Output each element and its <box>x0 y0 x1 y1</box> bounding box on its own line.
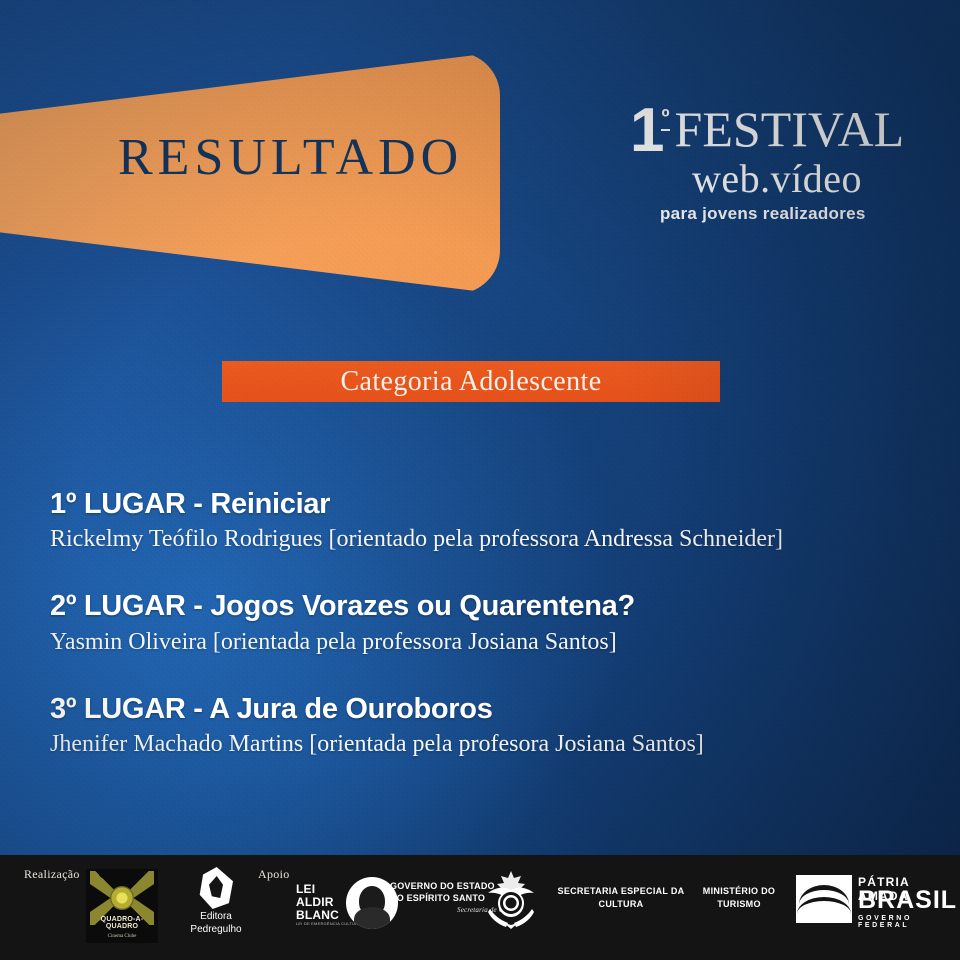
festival-tagline: para jovens realizadores <box>660 204 920 224</box>
secretaria-especial-cultura-logo: SECRETARIA ESPECIAL DA CULTURA <box>556 885 686 911</box>
lei-aldir-blanc-logo: LEI ALDIR BLANC LEI DE EMERGÊNCIA CULTUR… <box>296 877 398 935</box>
editora-pedregulho-logo: Editora Pedregulho <box>180 867 252 936</box>
winner-credit: Jhenifer Machado Martins [orientada pela… <box>50 729 930 760</box>
realizacao-label: Realização <box>24 867 80 882</box>
festival-ordinal-number: 1 <box>630 102 662 159</box>
winner-credit: Rickelmy Teófilo Rodrigues [orientado pe… <box>50 524 930 555</box>
festival-ordinal-mark: º <box>661 106 669 131</box>
patria-amada-line-3: GOVERNO FEDERAL <box>858 915 944 929</box>
festival-word: FESTIVAL <box>675 106 905 152</box>
winner-title: 3º LUGAR - A Jura de Ouroboros <box>50 692 930 726</box>
brasil-arc-lower <box>797 897 851 923</box>
pedregulho-line-1: Editora <box>180 911 252 924</box>
winners-list: 1º LUGAR - Reiniciar Rickelmy Teófilo Ro… <box>50 487 930 794</box>
winner-entry-3: 3º LUGAR - A Jura de Ouroboros Jhenifer … <box>50 692 930 760</box>
aldir-blanc-line-3: BLANC <box>296 909 339 922</box>
festival-logo: 1 º FESTIVAL web.vídeo para jovens reali… <box>630 104 920 224</box>
pedregulho-line-2: Pedregulho <box>180 924 252 937</box>
patria-amada-brasil-logo: PÁTRIA AMADA BRASIL GOVERNO FEDERAL <box>796 873 944 927</box>
patria-amada-line-2: BRASIL <box>858 888 957 913</box>
quadro-a-quadro-name: QUADRO-A-QUADRO <box>86 916 158 930</box>
result-title: RESULTADO <box>118 132 463 184</box>
festival-logo-row-1: 1 º FESTIVAL <box>630 104 920 161</box>
quadro-a-quadro-logo: QUADRO-A-QUADRO Cinema Clube <box>86 869 158 943</box>
secretaria-cultura-line-2: CULTURA <box>556 898 686 911</box>
quadro-a-quadro-subtitle: Cinema Clube <box>86 934 158 939</box>
secretaria-cultura-line-1: SECRETARIA ESPECIAL DA <box>556 885 686 898</box>
festival-subtitle-webvideo: web.vídeo <box>692 155 920 202</box>
ministerio-turismo-line-2: TURISMO <box>694 898 784 911</box>
brasil-arc-icon <box>796 875 852 923</box>
winner-entry-2: 2º LUGAR - Jogos Vorazes ou Quarentena? … <box>50 589 930 657</box>
ministerio-turismo-line-1: MINISTÉRIO DO <box>694 885 784 898</box>
winner-title: 2º LUGAR - Jogos Vorazes ou Quarentena? <box>50 589 930 623</box>
apoio-label: Apoio <box>258 867 290 882</box>
category-banner: Categoria Adolescente <box>222 361 720 402</box>
sponsor-footer: Realização Apoio QUADRO-A-QUADRO Cinema … <box>0 855 960 960</box>
result-poster: RESULTADO 1 º FESTIVAL web.vídeo para jo… <box>0 0 960 960</box>
winner-entry-1: 1º LUGAR - Reiniciar Rickelmy Teófilo Ro… <box>50 487 930 555</box>
winner-credit: Yasmin Oliveira [orientada pela professo… <box>50 627 930 658</box>
aldir-blanc-line-2: ALDIR <box>296 896 339 909</box>
ministerio-turismo-logo: MINISTÉRIO DO TURISMO <box>694 885 784 911</box>
category-label: Categoria Adolescente <box>340 366 601 398</box>
brasao-republica-icon <box>480 869 542 931</box>
aldir-blanc-line-1: LEI <box>296 883 339 896</box>
gear-dot-icon <box>110 886 134 910</box>
winner-title: 1º LUGAR - Reiniciar <box>50 487 930 521</box>
